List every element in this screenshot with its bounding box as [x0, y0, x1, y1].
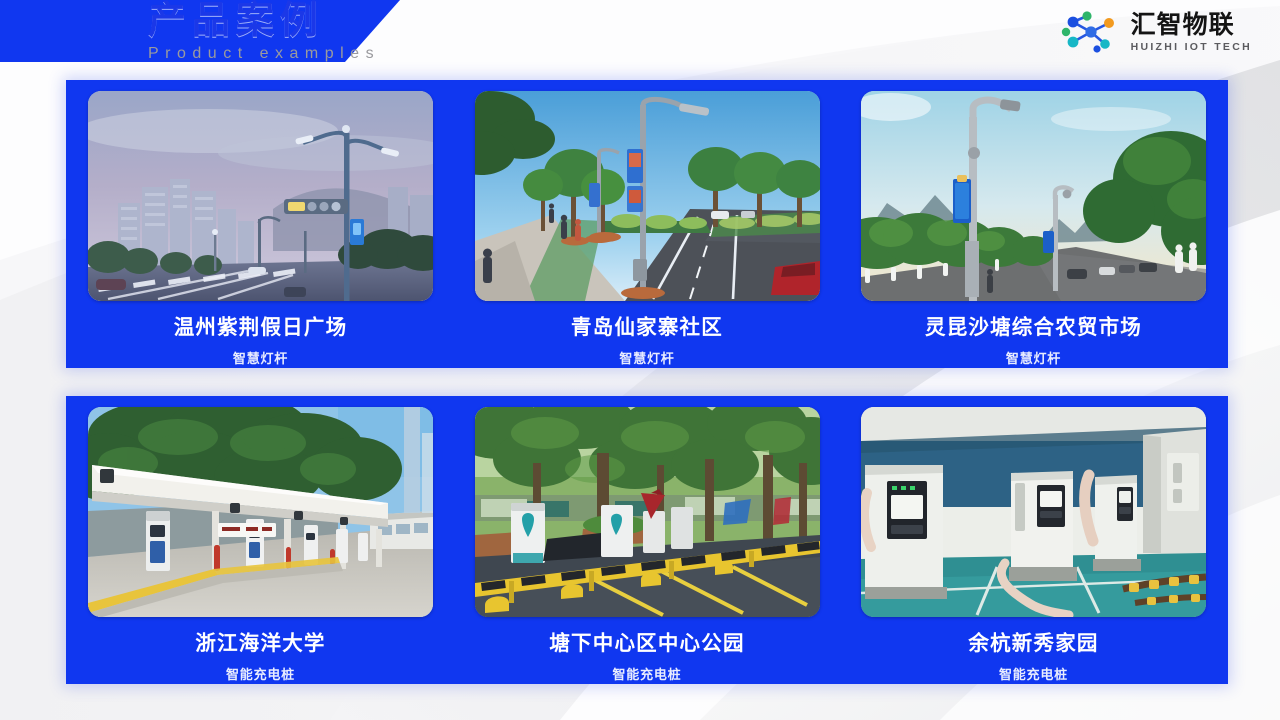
- slide-header: 产品案例 Product examples 汇智物联 HUIZHI IOT TE…: [0, 0, 1280, 78]
- case-row-panel-2: 浙江海洋大学 智能充电桩: [66, 396, 1228, 684]
- case-subtitle: 智能充电桩: [999, 664, 1068, 683]
- case-subtitle: 智能充电桩: [226, 664, 295, 683]
- page-title: 产品案例: [148, 0, 380, 44]
- case-card-yuhang-xinxiu[interactable]: 余杭新秀家园 智能充电桩: [861, 407, 1206, 684]
- case-card-wenzhou[interactable]: 温州紫荆假日广场 智慧灯杆: [88, 91, 433, 368]
- title-block: 产品案例 Product examples: [148, 0, 380, 63]
- logo-name-en: HUIZHI IOT TECH: [1131, 41, 1252, 53]
- case-title: 浙江海洋大学: [195, 632, 325, 656]
- canopy-charging-station-photo: [88, 407, 433, 617]
- case-card-zhejiang-ocean-university[interactable]: 浙江海洋大学 智能充电桩: [88, 407, 433, 684]
- case-title: 塘下中心区中心公园: [549, 632, 744, 656]
- case-subtitle: 智慧灯杆: [619, 348, 674, 367]
- case-card-tangxia-park[interactable]: 塘下中心区中心公园 智能充电桩: [475, 407, 820, 684]
- logo-name-cn: 汇智物联: [1131, 12, 1235, 39]
- case-title: 温州紫荆假日广场: [174, 316, 348, 340]
- case-subtitle: 智慧灯杆: [1006, 348, 1061, 367]
- indoor-garage-charging-cabinets-photo: [861, 407, 1206, 617]
- case-title: 灵昆沙塘综合农贸市场: [925, 316, 1142, 340]
- case-title: 青岛仙家寨社区: [571, 316, 723, 340]
- dusk-city-street-smart-pole-photo: [88, 91, 433, 301]
- case-card-lingkun[interactable]: 灵昆沙塘综合农贸市场 智慧灯杆: [861, 91, 1206, 368]
- roadside-smart-poles-mountain-photo: [861, 91, 1206, 301]
- molecule-nodes-icon: [1061, 10, 1123, 54]
- brand-logo: 汇智物联 HUIZHI IOT TECH: [1061, 10, 1252, 54]
- case-row-panel-1: 温州紫荆假日广场 智慧灯杆: [66, 80, 1228, 368]
- case-card-qingdao[interactable]: 青岛仙家寨社区 智慧灯杆: [475, 91, 820, 368]
- daytime-tree-lined-street-render: [475, 91, 820, 301]
- logo-text-block: 汇智物联 HUIZHI IOT TECH: [1131, 12, 1252, 53]
- case-subtitle: 智能充电桩: [612, 664, 681, 683]
- page-subtitle: Product examples: [148, 45, 380, 63]
- outdoor-parking-chargers-photo: [475, 407, 820, 617]
- case-subtitle: 智慧灯杆: [233, 348, 288, 367]
- case-title: 余杭新秀家园: [968, 632, 1098, 656]
